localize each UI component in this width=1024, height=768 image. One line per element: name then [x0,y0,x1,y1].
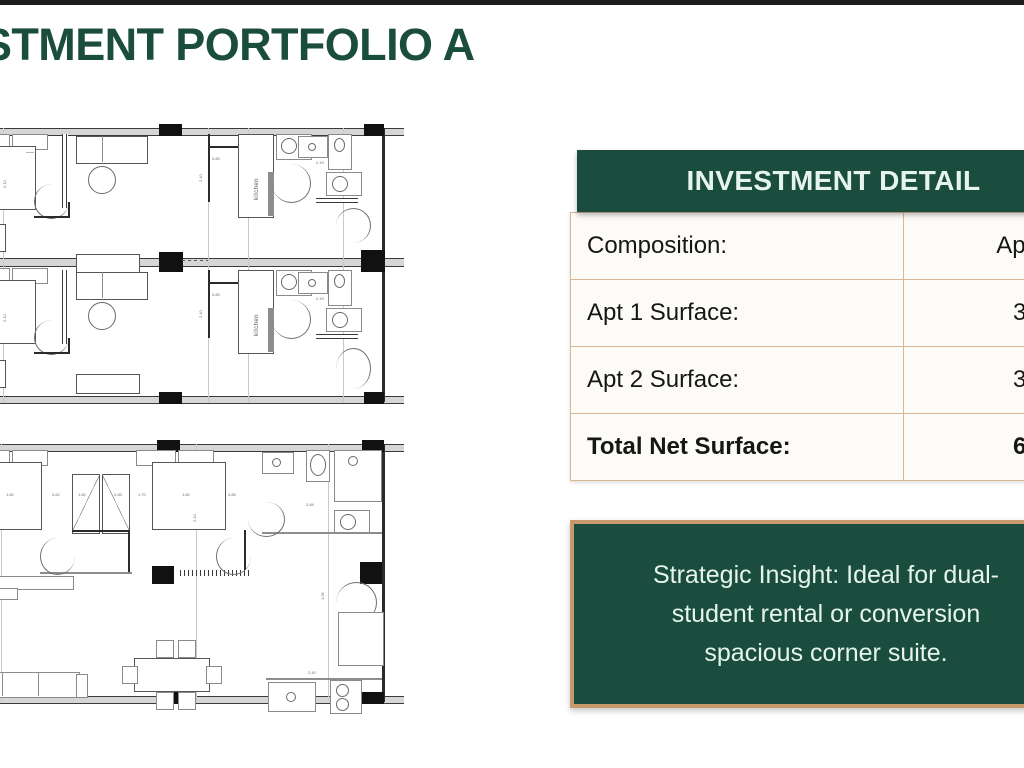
floorplan-image-upper: 2.10 0.80 0.80 2.10 2.10 kitchen [0,112,404,410]
floorplan-image-lower: 1.80 0.62 2.10 1.80 0.85 1.70 1.60 0.85 … [0,430,404,714]
page-title: STMENT PORTFOLIO A [0,14,602,76]
row-value-apt2-surface: 33.55 [904,347,1024,414]
floorplan-panel: 2.10 0.80 0.80 2.10 2.10 kitchen [0,112,404,714]
table-header-label: INVESTMENT DETAIL [686,165,980,197]
row-value-composition: Apt 1 + [904,213,1024,280]
investment-details-table: Composition: Apt 1 + Apt 1 Surface: 34.3… [570,212,1024,481]
insight-line-1: Strategic Insight: Ideal for dual- [653,561,999,589]
table-row: Apt 1 Surface: 34.38 [571,280,1024,347]
insight-line-3: spacious corner suite. [704,639,947,667]
slide-canvas: STMENT PORTFOLIO A [0,0,1024,768]
strategic-insight-text: Strategic Insight: Ideal for dual- stude… [639,556,1013,673]
table-row-total: Total Net Surface: 67.93 [571,414,1024,481]
investment-details-panel: INVESTMENT DETAIL Composition: Apt 1 + A… [570,150,1024,481]
table-header-bar: INVESTMENT DETAIL [577,150,1024,212]
insight-line-2: student rental or conversion [672,600,981,628]
strategic-insight-box: Strategic Insight: Ideal for dual- stude… [570,520,1024,708]
top-edge-band [0,0,1024,5]
table-row: Composition: Apt 1 + [571,213,1024,280]
row-label-composition: Composition: [571,213,904,280]
row-label-total-net-surface: Total Net Surface: [571,414,904,481]
row-value-apt1-surface: 34.38 [904,280,1024,347]
table-row: Apt 2 Surface: 33.55 [571,347,1024,414]
row-label-apt1-surface: Apt 1 Surface: [571,280,904,347]
row-value-total-net-surface: 67.93 [904,414,1024,481]
row-label-apt2-surface: Apt 2 Surface: [571,347,904,414]
